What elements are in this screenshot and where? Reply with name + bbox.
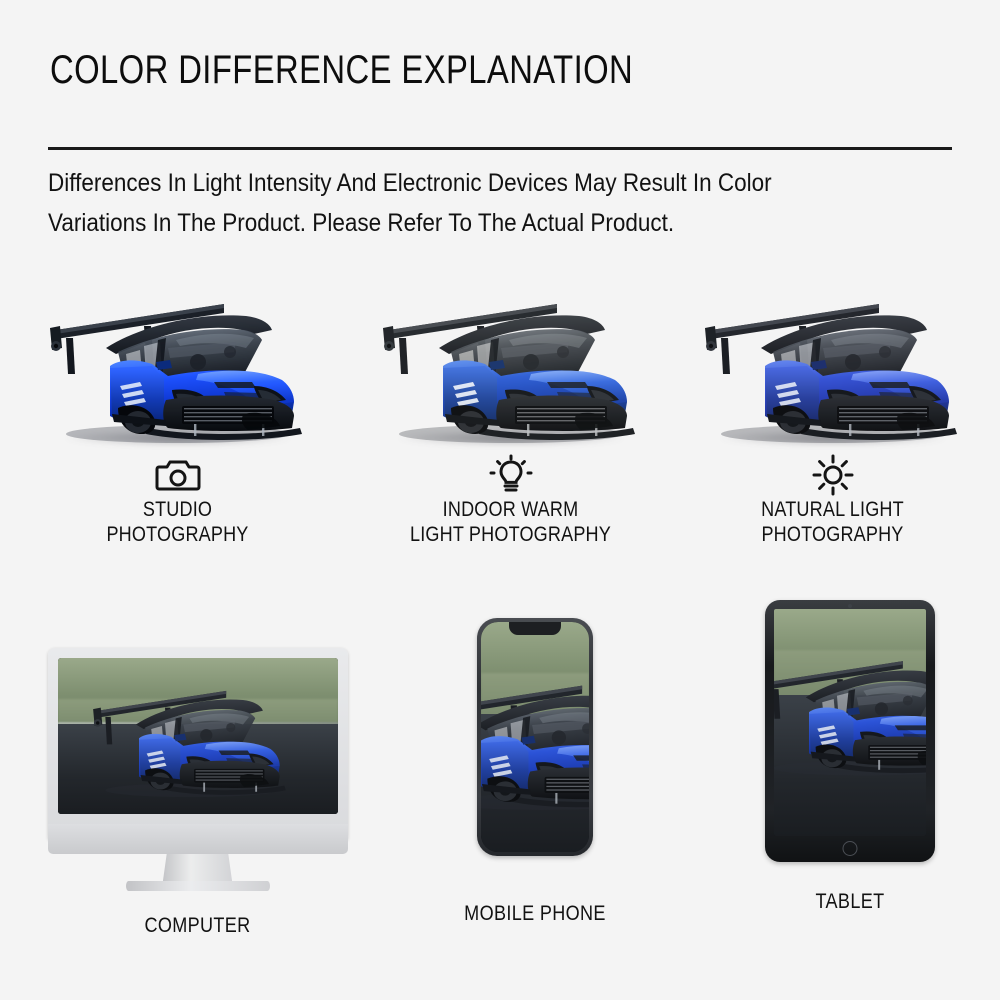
monitor-stand-base [126,881,270,891]
monitor-body [48,648,348,840]
phone-frame [477,618,593,856]
car-photo-indoor-warm [381,282,641,452]
phone-screen [481,622,589,852]
track-scene [481,622,589,852]
monitor-stand-neck [163,854,233,884]
phone-notch [509,622,561,635]
desktop-monitor [48,648,348,898]
sun-icon [700,452,965,498]
device-cell-mobile-phone: MOBILE PHONE [420,618,650,927]
track-scene [58,658,338,814]
car-illustration [381,282,641,452]
tablet-screen [774,609,926,836]
lightbulb-icon [378,452,643,498]
tablet-camera-icon [848,604,852,608]
tablet [765,600,935,862]
device-label-computer: COMPUTER [66,914,328,939]
device-label-mobile-phone: MOBILE PHONE [436,902,634,927]
lighting-label-indoor-warm: INDOOR WARM LIGHT PHOTOGRAPHY [397,498,625,548]
header-divider [48,147,952,150]
device-cell-tablet: TABLET [735,600,965,915]
camera-icon [45,452,310,498]
lighting-label-studio: STUDIO PHOTOGRAPHY [64,498,292,548]
lighting-cell-studio: STUDIO PHOTOGRAPHY [45,282,310,548]
device-label-tablet: TABLET [751,890,949,915]
car-photo-natural-light [703,282,963,452]
tablet-home-button[interactable] [843,841,858,856]
page-title: COLOR DIFFERENCE EXPLANATION [50,48,633,93]
color-difference-infographic: COLOR DIFFERENCE EXPLANATION Differences… [0,0,1000,1000]
device-cell-computer: COMPUTER [45,648,350,939]
tablet-frame [765,600,935,862]
monitor-chin [48,824,348,854]
lighting-label-natural-light: NATURAL LIGHT PHOTOGRAPHY [719,498,947,548]
car-illustration [703,282,963,452]
track-scene [774,609,926,836]
mobile-phone [477,618,593,856]
lighting-cell-natural-light: NATURAL LIGHT PHOTOGRAPHY [700,282,965,548]
car-photo-studio [48,282,308,452]
header-body-text: Differences In Light Intensity And Elect… [48,164,863,243]
car-illustration [48,282,308,452]
lighting-cell-indoor-warm: INDOOR WARM LIGHT PHOTOGRAPHY [378,282,643,548]
monitor-screen [58,658,338,814]
